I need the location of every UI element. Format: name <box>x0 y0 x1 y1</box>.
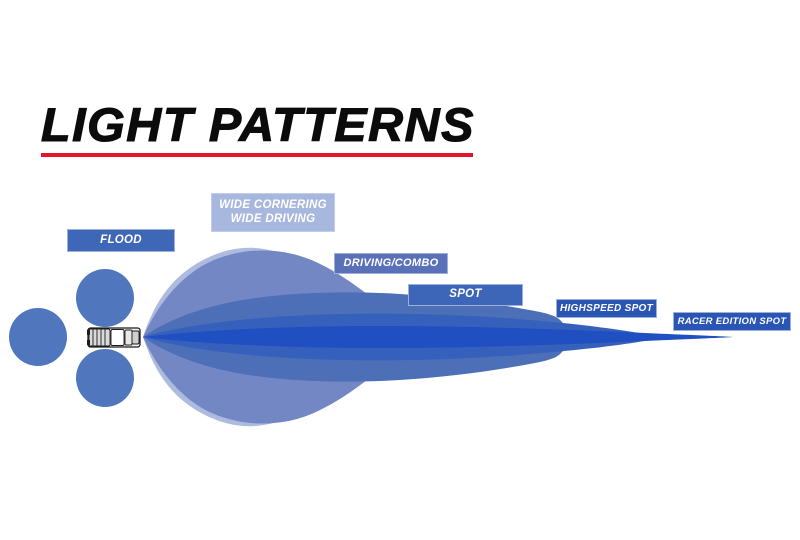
pattern-label-wide-cornering: WIDE CORNERING WIDE DRIVING <box>211 193 335 232</box>
pattern-label-flood: FLOOD <box>67 229 175 252</box>
pattern-label-racer-edition-spot: RACER EDITION SPOT <box>673 312 791 331</box>
title-underline-rule <box>41 153 473 157</box>
truck-top-view-icon <box>87 328 140 347</box>
pattern-label-driving-combo: DRIVING/COMBO <box>334 253 448 274</box>
light-pattern-diagram <box>0 160 800 460</box>
pattern-label-highspeed-spot: HIGHSPEED SPOT <box>556 299 657 318</box>
infographic-canvas: LIGHT PATTERNS <box>0 0 800 540</box>
pattern-label-spot: SPOT <box>408 284 523 306</box>
title-block: LIGHT PATTERNS <box>41 100 501 150</box>
page-title: LIGHT PATTERNS <box>41 100 515 150</box>
